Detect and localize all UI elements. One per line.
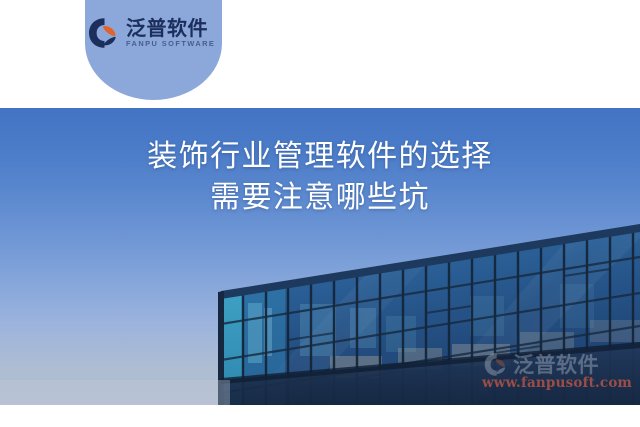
header-strip: 泛普软件 FANPU SOFTWARE — [0, 0, 640, 108]
article-banner-image: 泛普软件 FANPU SOFTWARE — [0, 0, 640, 427]
footer-strip — [0, 405, 640, 427]
banner-photo: 泛普软件 www.fanpusoft.com — [0, 108, 640, 405]
watermark-fanpu-logo-mark-icon — [484, 352, 510, 377]
brand-name-en: FANPU SOFTWARE — [126, 40, 215, 47]
brand-logo-wordmark: 泛普软件 FANPU SOFTWARE — [126, 18, 215, 47]
ground-haze — [0, 380, 230, 405]
watermark-url: www.fanpusoft.com — [478, 375, 636, 391]
brand-name-cn: 泛普软件 — [126, 18, 215, 38]
fanpu-logo-mark-icon — [88, 17, 122, 49]
watermark: 泛普软件 www.fanpusoft.com — [478, 347, 636, 405]
brand-logo[interactable]: 泛普软件 FANPU SOFTWARE — [88, 12, 220, 54]
